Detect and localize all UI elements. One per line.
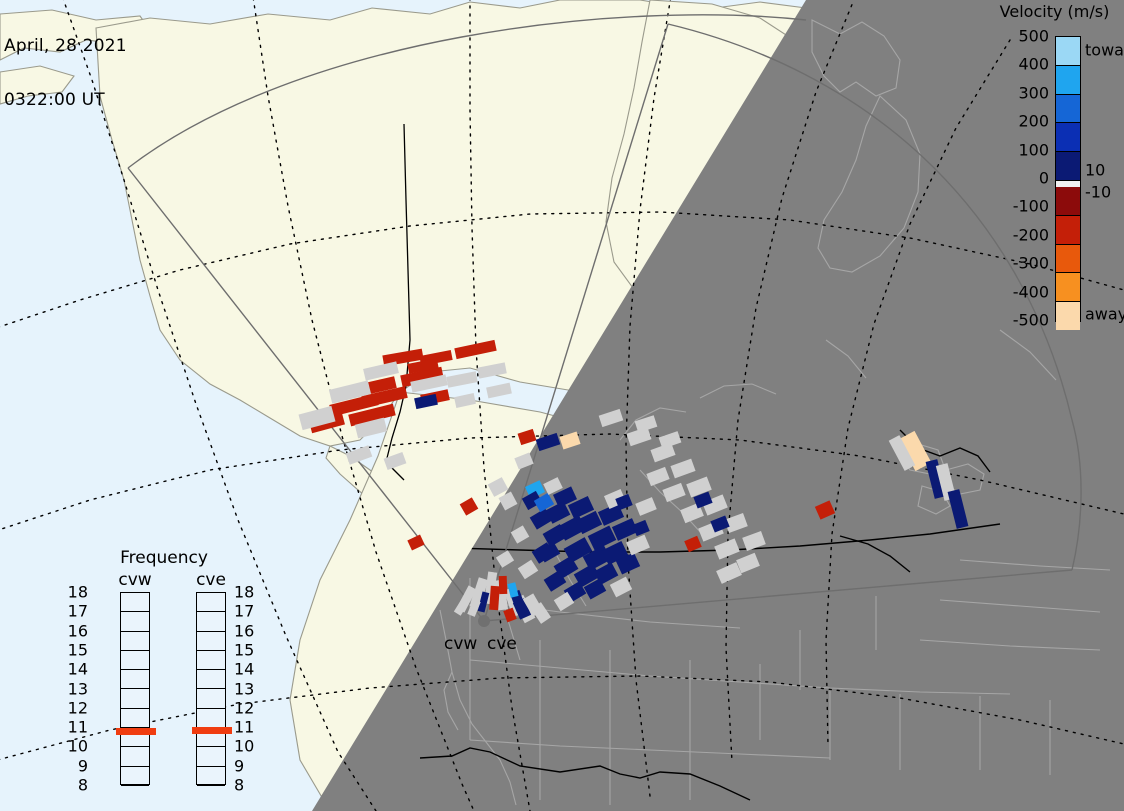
velocity-swatch-away-4 [1056, 302, 1080, 330]
velocity-swatch-toward-3 [1056, 123, 1080, 152]
velocity-swatch-toward-4 [1056, 152, 1080, 181]
frequency-segment [197, 670, 225, 689]
velocity-tick-500: 500 [1018, 27, 1049, 46]
frequency-segment [121, 670, 149, 689]
velocity-tick-200: 200 [1018, 112, 1049, 131]
velocity-swatch-toward-0 [1056, 37, 1080, 66]
velocity-tick-neg500: -500 [1013, 311, 1049, 330]
velocity-colorbar [1055, 36, 1081, 322]
frequency-segment [197, 593, 225, 612]
frequency-column-label-cvw: cvw [112, 570, 158, 590]
frequency-segment [197, 651, 225, 670]
frequency-bar-cvw [120, 592, 150, 785]
radar-cell [489, 586, 500, 611]
velocity-tick-0: 0 [1039, 169, 1049, 188]
station-label-cvw: cvw [444, 634, 477, 654]
frequency-marker-cvw [116, 728, 156, 735]
timestamp-block: April, 28 2021 0322:00 UT [4, 1, 127, 145]
frequency-segment [121, 709, 149, 728]
velocity-colorbar-legend: Velocity (m/s) 5004003002001000-100-200-… [985, 0, 1124, 330]
frequency-scale-right: 18171615141312111098 [234, 592, 260, 785]
frequency-tick-8: 8 [234, 776, 244, 795]
velocity-tick-100: 100 [1018, 140, 1049, 159]
frequency-tick-17: 17 [234, 602, 254, 621]
frequency-tick-14: 14 [68, 660, 88, 679]
frequency-segment [197, 689, 225, 708]
frequency-tick-18: 18 [234, 583, 254, 602]
frequency-column-label-cve: cve [188, 570, 234, 590]
frequency-tick-12: 12 [68, 698, 88, 717]
radar-cell [499, 576, 508, 594]
frequency-tick-18: 18 [68, 583, 88, 602]
frequency-tick-9: 9 [234, 756, 244, 775]
velocity-swatch-away-3 [1056, 273, 1080, 302]
frequency-segment [197, 632, 225, 651]
velocity-tick-neg400: -400 [1013, 282, 1049, 301]
radar-station-marker [478, 615, 490, 627]
frequency-segment [197, 612, 225, 631]
velocity-label-pos10: 10 [1085, 161, 1105, 180]
frequency-segment [121, 593, 149, 612]
frequency-segment [197, 709, 225, 728]
frequency-legend: Frequency cvw 18171615141312111098 cve 1… [84, 548, 244, 788]
velocity-label-away: away [1085, 305, 1124, 324]
velocity-tick-neg100: -100 [1013, 197, 1049, 216]
frequency-tick-12: 12 [234, 698, 254, 717]
velocity-swatch-away-2 [1056, 245, 1080, 274]
radar-map-page: April, 28 2021 0322:00 UT cvw cve Veloci… [0, 0, 1124, 811]
frequency-tick-11: 11 [234, 718, 254, 737]
velocity-tick-neg200: -200 [1013, 225, 1049, 244]
frequency-tick-13: 13 [68, 679, 88, 698]
velocity-swatch-toward-1 [1056, 66, 1080, 95]
velocity-swatch-toward-2 [1056, 95, 1080, 124]
velocity-legend-title: Velocity (m/s) [985, 2, 1124, 21]
frequency-tick-13: 13 [234, 679, 254, 698]
velocity-label-toward: toward [1085, 41, 1124, 60]
frequency-segment [121, 689, 149, 708]
frequency-segment [121, 651, 149, 670]
frequency-segment [121, 612, 149, 631]
timestamp-time: 0322:00 UT [4, 91, 127, 109]
frequency-tick-14: 14 [234, 660, 254, 679]
frequency-tick-16: 16 [68, 621, 88, 640]
velocity-swatch-away-1 [1056, 216, 1080, 245]
velocity-tick-400: 400 [1018, 55, 1049, 74]
velocity-tick-300: 300 [1018, 83, 1049, 102]
velocity-side-labels: toward10-10away [1085, 28, 1124, 328]
frequency-segment [121, 632, 149, 651]
velocity-tick-labels: 5004003002001000-100-200-300-400-500 [985, 28, 1049, 328]
velocity-tick-neg300: -300 [1013, 254, 1049, 273]
station-label-cve: cve [487, 634, 517, 654]
frequency-tick-15: 15 [234, 640, 254, 659]
frequency-tick-8: 8 [78, 776, 88, 795]
frequency-legend-title: Frequency [84, 548, 244, 568]
frequency-segment [197, 747, 225, 766]
timestamp-date: April, 28 2021 [4, 37, 127, 55]
frequency-tick-16: 16 [234, 621, 254, 640]
frequency-scale-left: 18171615141312111098 [62, 592, 88, 785]
frequency-marker-cve [192, 727, 232, 734]
velocity-label-neg10: -10 [1085, 183, 1111, 202]
frequency-tick-11: 11 [68, 718, 88, 737]
frequency-tick-15: 15 [68, 640, 88, 659]
frequency-bar-cve [196, 592, 226, 785]
frequency-tick-10: 10 [68, 737, 88, 756]
frequency-segment [121, 767, 149, 786]
velocity-swatch-away-0 [1056, 187, 1080, 216]
frequency-tick-17: 17 [68, 602, 88, 621]
frequency-tick-10: 10 [234, 737, 254, 756]
frequency-segment [197, 767, 225, 786]
frequency-tick-9: 9 [78, 756, 88, 775]
frequency-segment [121, 747, 149, 766]
